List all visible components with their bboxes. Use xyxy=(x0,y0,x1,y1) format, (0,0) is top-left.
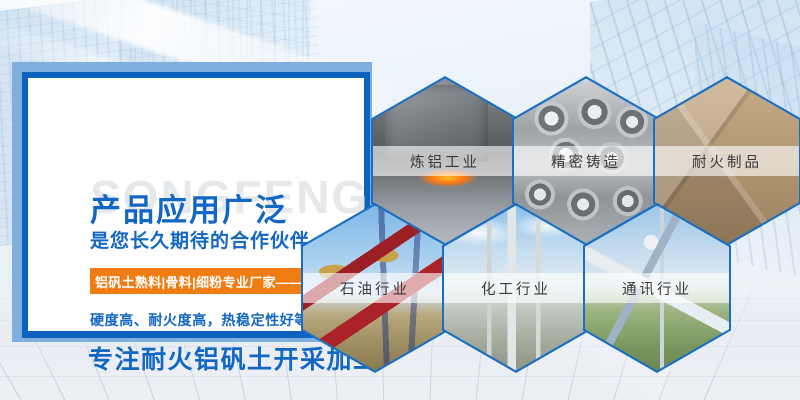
industry-hexagon-grid: 炼铝工业 精密铸造 耐火制品 xyxy=(0,0,800,400)
hexagon-label-band: 炼铝工业 xyxy=(373,146,517,176)
promotional-banner: SONGFENG 产品应用广泛 是您长久期待的合作伙伴 铝矾土熟料|骨料|细粉专… xyxy=(0,0,800,400)
hexagon-label: 通讯行业 xyxy=(622,278,692,299)
hexagon-label-band: 精密铸造 xyxy=(514,146,658,176)
hexagon-label-band: 化工行业 xyxy=(444,273,588,303)
hexagon-label-band: 石油行业 xyxy=(303,273,447,303)
hexagon-label: 炼铝工业 xyxy=(410,151,480,172)
hexagon-label: 石油行业 xyxy=(340,278,410,299)
hexagon-label: 耐火制品 xyxy=(692,151,762,172)
hexagon-label: 化工行业 xyxy=(481,278,551,299)
hexagon-label-band: 通讯行业 xyxy=(585,273,729,303)
hexagon-label: 精密铸造 xyxy=(551,151,621,172)
hexagon-label-band: 耐火制品 xyxy=(655,146,799,176)
